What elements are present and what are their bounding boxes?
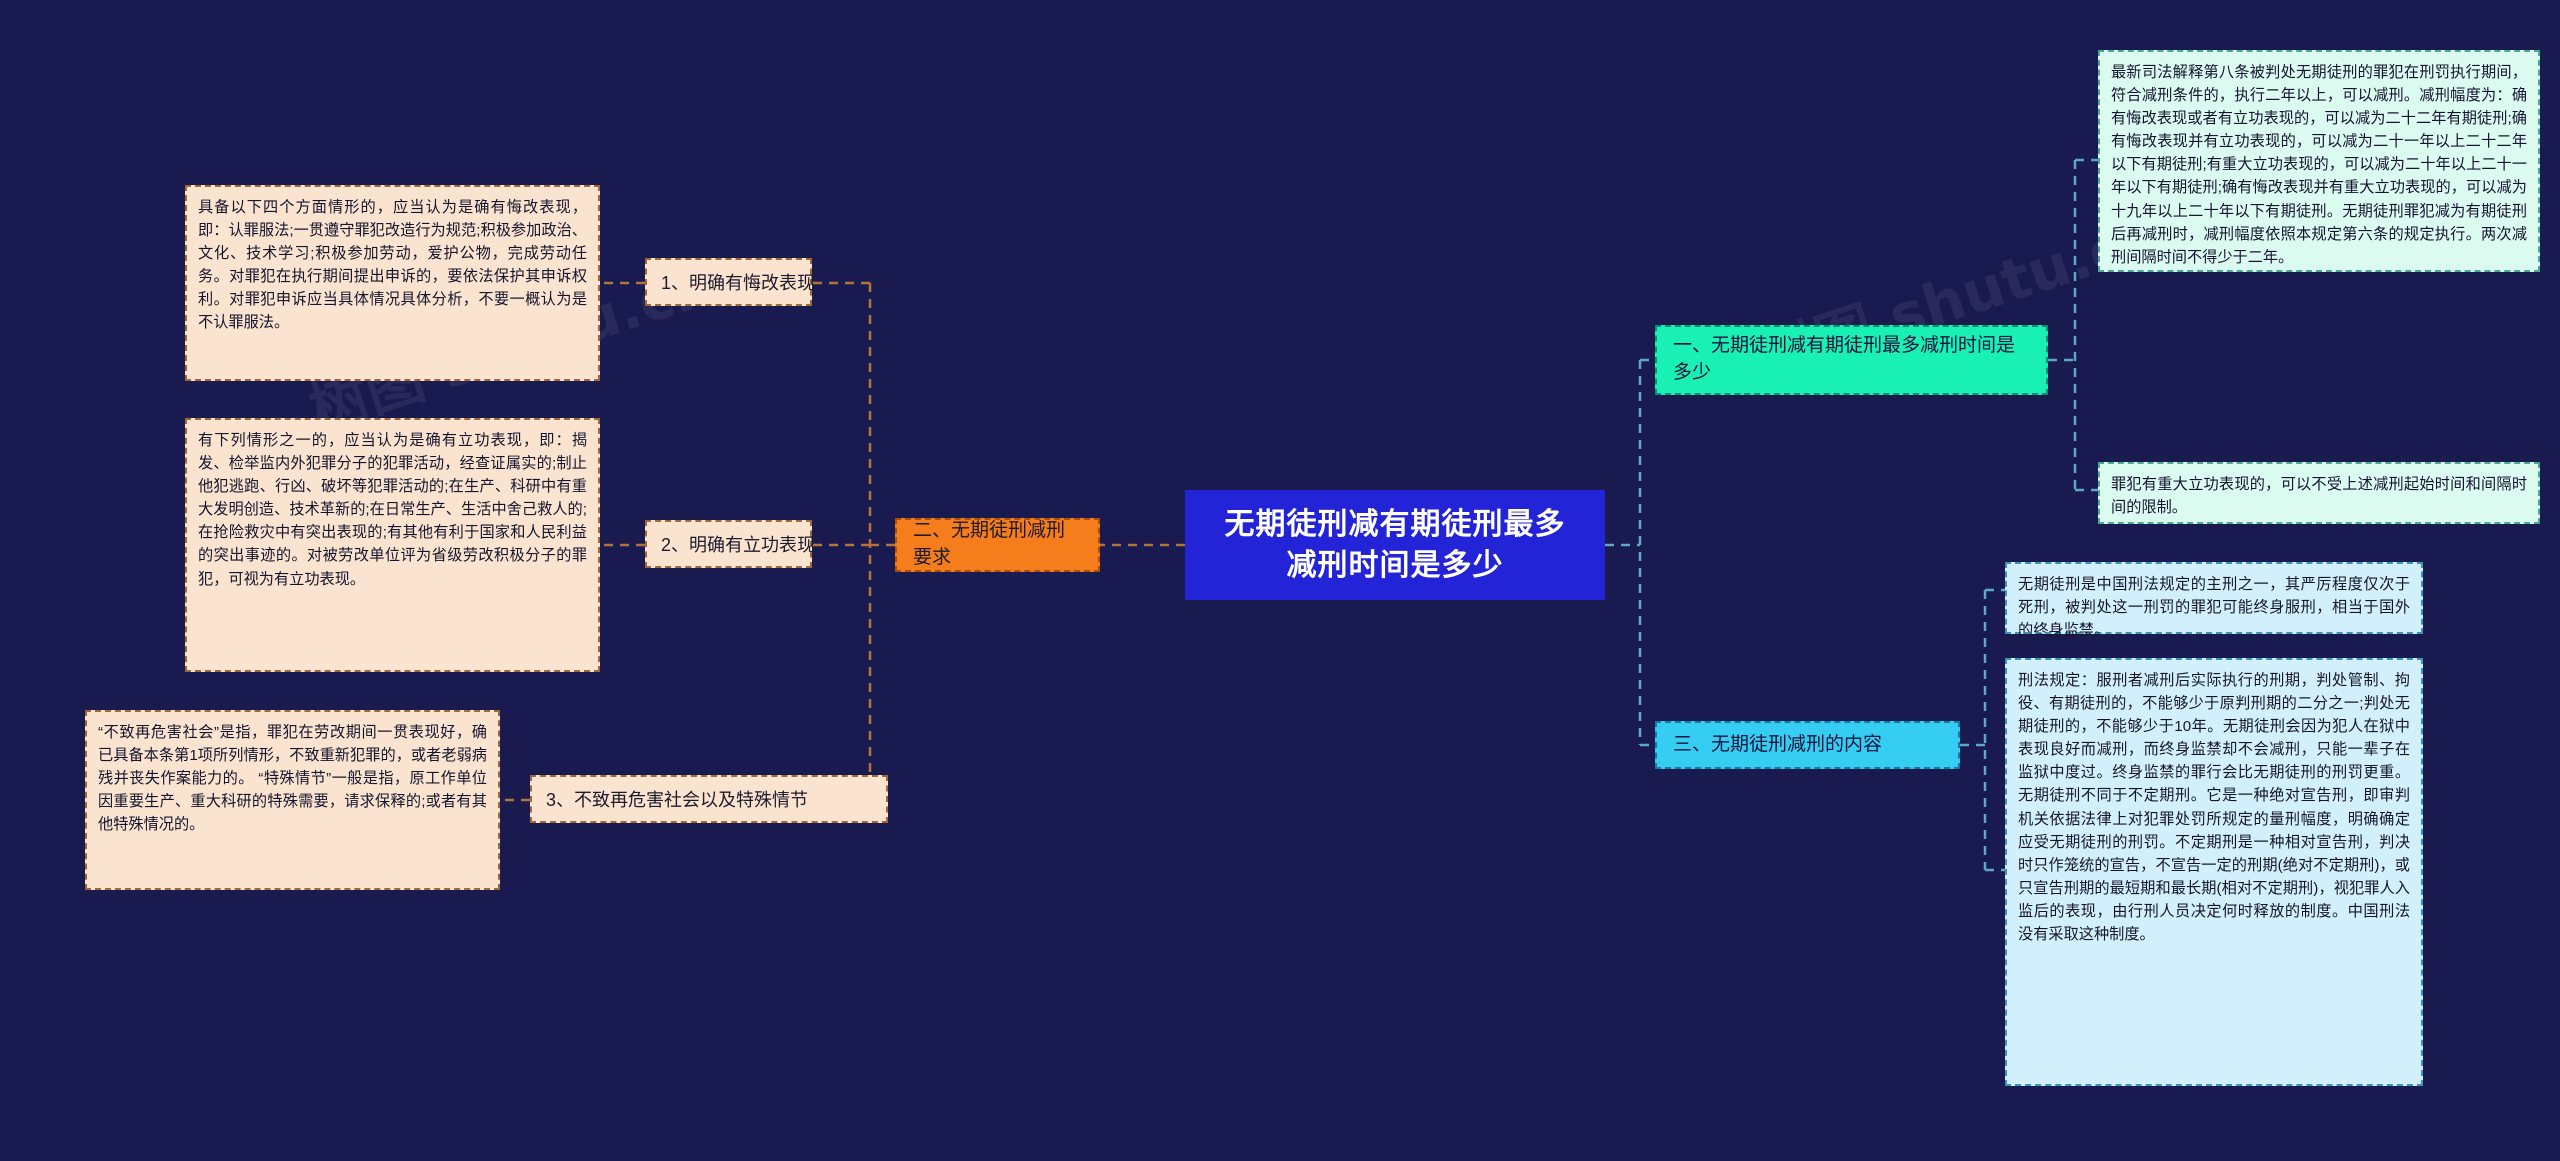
left-leaf-3-text: “不致再危害社会”是指，罪犯在劳改期间一贯表现好，确已具备本条第1项所列情形，不…	[98, 724, 487, 833]
mindmap-canvas: 树图 shutu.cn 树图 shutu.cn 无期徒刑减有期徒刑最多减刑时间是…	[0, 0, 2560, 1161]
right-branch-green-label: 一、无期徒刑减有期徒刑最多减刑时间是多少	[1673, 333, 2030, 387]
right-green-leaf-1[interactable]: 最新司法解释第八条被判处无期徒刑的罪犯在刑罚执行期间，符合减刑条件的，执行二年以…	[2098, 50, 2540, 272]
left-leaf-1[interactable]: 具备以下四个方面情形的，应当认为是确有悔改表现，即：认罪服法;一贯遵守罪犯改造行…	[185, 185, 600, 381]
root-node[interactable]: 无期徒刑减有期徒刑最多减刑时间是多少	[1185, 490, 1605, 600]
root-label: 无期徒刑减有期徒刑最多减刑时间是多少	[1211, 504, 1579, 587]
left-chip-1-label: 1、明确有悔改表现	[661, 269, 815, 295]
left-chip-2[interactable]: 2、明确有立功表现	[645, 520, 812, 568]
right-cyan-leaf-1-text: 无期徒刑是中国刑法规定的主刑之一，其严厉程度仅次于死刑，被判处这一刑罚的罪犯可能…	[2018, 576, 2410, 639]
right-branch-cyan-label: 三、无期徒刑减刑的内容	[1673, 732, 1882, 759]
left-leaf-1-text: 具备以下四个方面情形的，应当认为是确有悔改表现，即：认罪服法;一贯遵守罪犯改造行…	[198, 199, 587, 331]
right-green-leaf-1-text: 最新司法解释第八条被判处无期徒刑的罪犯在刑罚执行期间，符合减刑条件的，执行二年以…	[2111, 64, 2527, 266]
right-green-leaf-2-text: 罪犯有重大立功表现的，可以不受上述减刑起始时间和间隔时间的限制。	[2111, 476, 2527, 516]
left-chip-1[interactable]: 1、明确有悔改表现	[645, 258, 812, 306]
right-cyan-leaf-2-text: 刑法规定：服刑者减刑后实际执行的刑期，判处管制、拘役、有期徒刑的，不能够少于原判…	[2018, 672, 2410, 943]
right-green-leaf-2[interactable]: 罪犯有重大立功表现的，可以不受上述减刑起始时间和间隔时间的限制。	[2098, 462, 2540, 524]
left-chip-2-label: 2、明确有立功表现	[661, 531, 815, 557]
left-leaf-3[interactable]: “不致再危害社会”是指，罪犯在劳改期间一贯表现好，确已具备本条第1项所列情形，不…	[85, 710, 500, 890]
left-chip-3-label: 3、不致再危害社会以及特殊情节	[546, 786, 808, 812]
right-branch-cyan[interactable]: 三、无期徒刑减刑的内容	[1655, 721, 1960, 769]
right-cyan-leaf-2[interactable]: 刑法规定：服刑者减刑后实际执行的刑期，判处管制、拘役、有期徒刑的，不能够少于原判…	[2005, 658, 2423, 1086]
left-leaf-2-text: 有下列情形之一的，应当认为是确有立功表现，即：揭发、检举监内外犯罪分子的犯罪活动…	[198, 432, 587, 588]
left-branch-node[interactable]: 二、无期徒刑减刑要求	[895, 518, 1100, 572]
left-chip-3[interactable]: 3、不致再危害社会以及特殊情节	[530, 775, 888, 823]
left-branch-label: 二、无期徒刑减刑要求	[913, 518, 1082, 572]
right-cyan-leaf-1[interactable]: 无期徒刑是中国刑法规定的主刑之一，其严厉程度仅次于死刑，被判处这一刑罚的罪犯可能…	[2005, 562, 2423, 634]
right-branch-green[interactable]: 一、无期徒刑减有期徒刑最多减刑时间是多少	[1655, 325, 2048, 395]
left-leaf-2[interactable]: 有下列情形之一的，应当认为是确有立功表现，即：揭发、检举监内外犯罪分子的犯罪活动…	[185, 418, 600, 672]
